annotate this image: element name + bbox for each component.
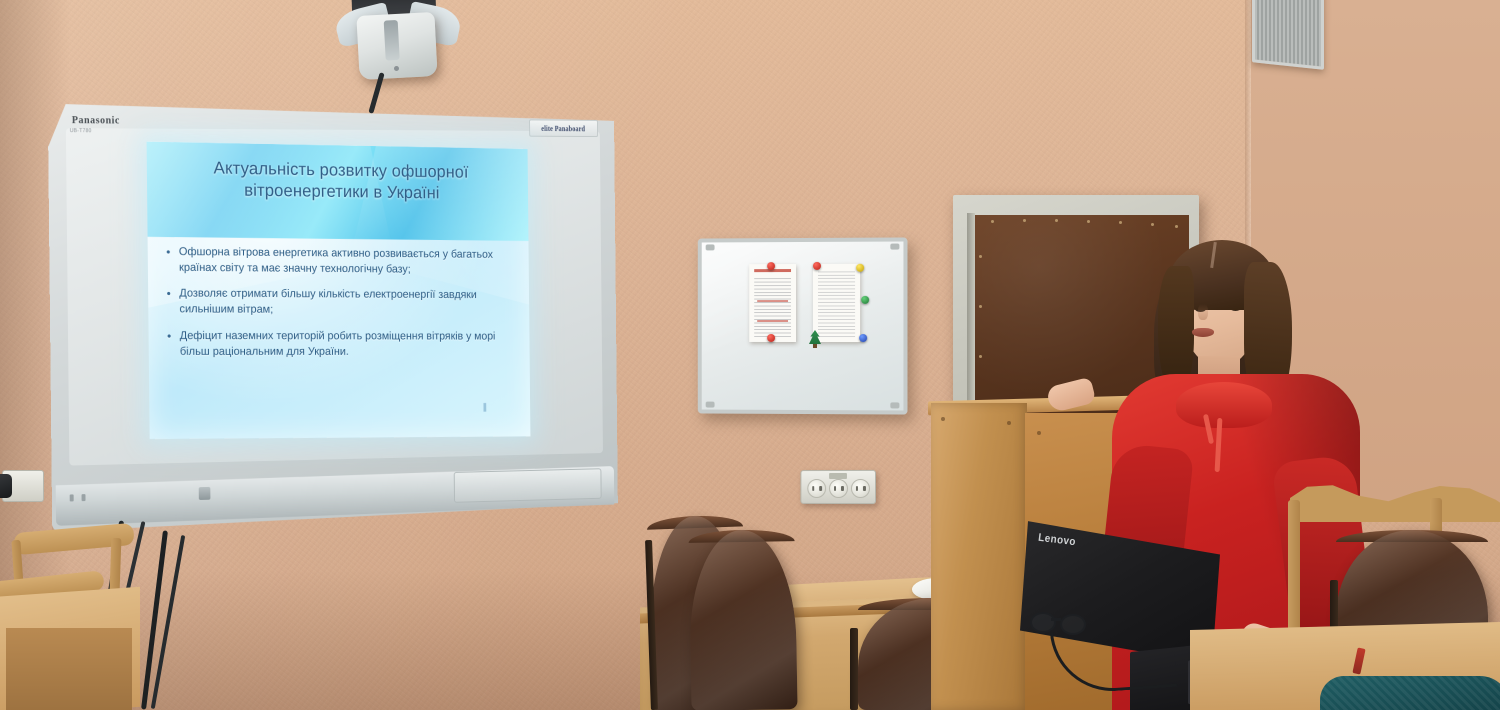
whiteboard-corner-bracket-br <box>890 402 899 408</box>
notice-text-lines <box>754 276 791 337</box>
wall-outlet-triple[interactable] <box>800 470 876 504</box>
classroom-presentation-photo: Panasonic UB-T780 elite Panaboard Актуал… <box>0 0 1500 710</box>
magnet-red-2[interactable] <box>767 334 775 342</box>
teal-knit-item <box>1320 676 1500 710</box>
magnet-red-1[interactable] <box>767 262 775 270</box>
projector-mount-screw <box>394 66 399 71</box>
interactive-whiteboard[interactable]: Panasonic UB-T780 elite Panaboard Актуал… <box>48 104 618 532</box>
wall-vent-grille-icon <box>1252 0 1324 70</box>
christmas-tree-trunk <box>813 344 817 348</box>
slide-bullet-3: Дефіцит наземних територій робить розміщ… <box>164 329 522 360</box>
whiteboard-corner-bracket-tl <box>706 244 715 250</box>
magnet-red-3[interactable] <box>813 262 821 270</box>
magnet-green[interactable] <box>861 296 869 304</box>
slide-title: Актуальність розвитку офшорної вітроенер… <box>170 156 510 205</box>
notice-paper-left <box>749 264 796 342</box>
notice-subheading-bar-2 <box>757 320 788 322</box>
outlet-socket-2[interactable] <box>829 479 848 498</box>
door-jamb <box>967 213 975 421</box>
notice-whiteboard <box>698 237 908 414</box>
whiteboard-tray-panel[interactable] <box>454 468 602 503</box>
magnet-blue[interactable] <box>859 334 867 342</box>
chair-leg-center <box>850 628 858 710</box>
desk-left-front-panel <box>6 628 132 710</box>
panasonic-logo: Panasonic <box>72 114 120 126</box>
slide-bullet-2: Дозволяє отримати більшу кількість елект… <box>164 287 522 319</box>
eyeglass-bridge <box>1051 618 1061 621</box>
panaboard-badge-text: elite Panaboard <box>541 124 585 133</box>
whiteboard-sheen <box>702 242 904 411</box>
projected-slide: Актуальність розвитку офшорної вітроенер… <box>147 142 531 439</box>
notice-subheading-bar <box>757 300 788 302</box>
presenter-mouth <box>1192 328 1214 337</box>
eyeglass-lens-left <box>1030 612 1056 633</box>
whiteboard-corner-bracket-bl <box>706 402 715 408</box>
eyeglass-lens-right <box>1060 614 1086 635</box>
notice-text-lines-right <box>818 270 855 337</box>
presenter-nose <box>1198 304 1208 320</box>
eyeglasses[interactable] <box>1030 612 1092 632</box>
notice-paper-right <box>813 264 860 342</box>
panaboard-model-label: UB-T780 <box>70 128 92 134</box>
outlet-socket-1[interactable] <box>807 479 826 498</box>
magnet-yellow[interactable] <box>856 264 864 272</box>
whiteboard-button-1[interactable] <box>70 494 74 501</box>
power-plug[interactable] <box>0 474 12 498</box>
whiteboard-corner-bracket-tr <box>890 244 899 250</box>
whiteboard-button-2[interactable] <box>82 494 86 501</box>
whiteboard-pen-slot[interactable] <box>199 487 211 500</box>
slide-corner-mark <box>483 403 486 412</box>
slide-bullet-list: Офшорна вітрова енергетика активно розви… <box>163 245 522 371</box>
outlet-socket-3[interactable] <box>851 479 870 498</box>
hoodie-collar <box>1176 382 1272 428</box>
lectern-side-panel <box>931 403 1027 710</box>
slide-bullet-1: Офшорна вітрова енергетика активно розви… <box>163 245 521 279</box>
